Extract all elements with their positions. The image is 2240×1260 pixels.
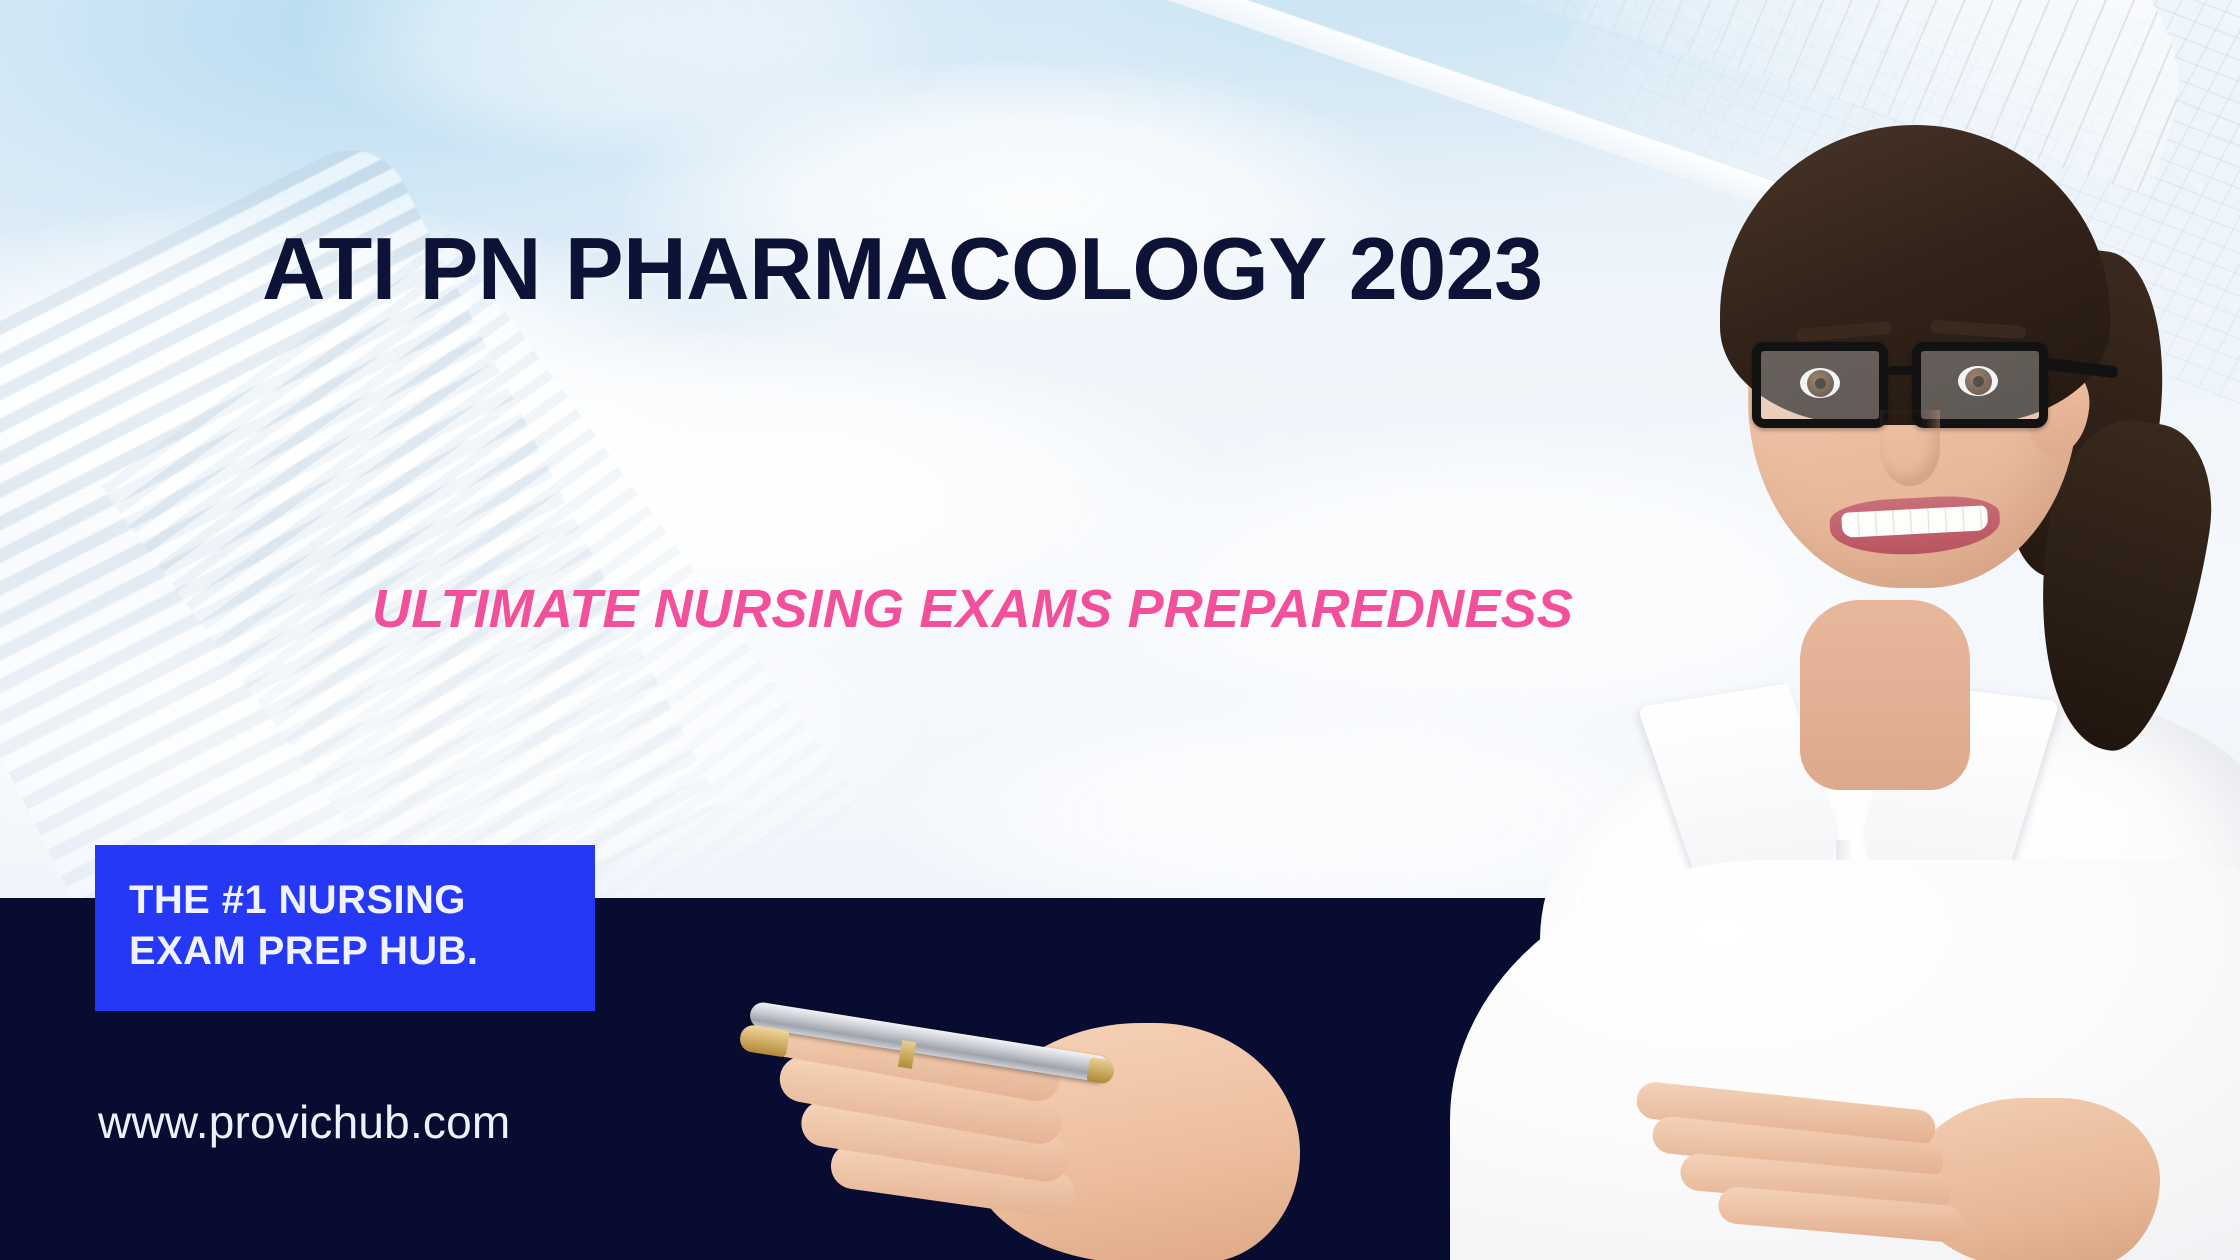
- tagline-badge-line-2: EXAM PREP HUB.: [129, 926, 561, 977]
- promo-banner: ATI PN PHARMACOLOGY 2023 ULTIMATE NURSIN…: [0, 0, 2240, 1260]
- banner-headline: ATI PN PHARMACOLOGY 2023: [262, 218, 1543, 320]
- eyeglass-lens-left-icon: [1752, 342, 1888, 428]
- presenter-neck-icon: [1800, 600, 1970, 790]
- teeth-icon: [1841, 505, 1988, 538]
- open-hand-gesture-icon: [1610, 1068, 2170, 1260]
- eyeglass-bridge-icon: [1888, 366, 1914, 375]
- tagline-badge-line-1: THE #1 NURSING: [129, 875, 561, 926]
- hand-holding-pen: [720, 985, 1340, 1260]
- cloud-shape: [300, 0, 940, 160]
- tagline-badge: THE #1 NURSING EXAM PREP HUB.: [95, 845, 595, 1011]
- website-url[interactable]: www.provichub.com: [98, 1095, 510, 1149]
- banner-subheadline: ULTIMATE NURSING EXAMS PREPAREDNESS: [372, 578, 1573, 640]
- nose-icon: [1880, 410, 1940, 486]
